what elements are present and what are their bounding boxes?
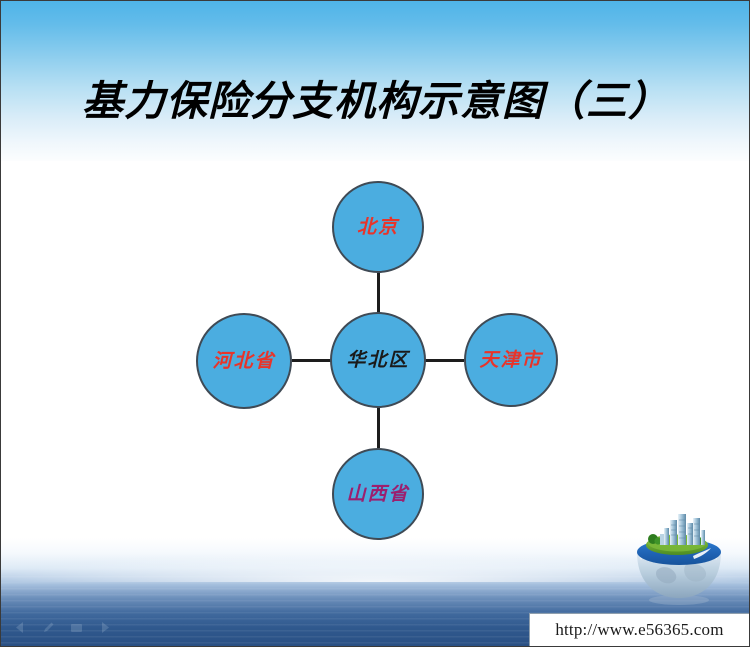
pen-tool-button[interactable] xyxy=(41,621,56,634)
node-tianjin-city[interactable]: 天津市 xyxy=(464,313,558,407)
earth-city-globe-logo xyxy=(627,512,731,606)
website-url-text: http://www.e56365.com xyxy=(555,620,723,640)
presentation-slide: 基力保险分支机构示意图（三） 北京 河北省 华北区 天津市 山西省 xyxy=(0,0,750,647)
node-shanxi-province[interactable]: 山西省 xyxy=(332,448,424,540)
website-url-plate[interactable]: http://www.e56365.com xyxy=(529,613,749,646)
presentation-nav-controls xyxy=(13,621,112,634)
slide-menu-button[interactable] xyxy=(69,621,84,634)
node-north-china-region[interactable]: 华北区 xyxy=(330,312,426,408)
node-hebei-province[interactable]: 河北省 xyxy=(196,313,292,409)
node-shanxi-province-label: 山西省 xyxy=(346,485,409,504)
node-north-china-region-label: 华北区 xyxy=(346,351,409,370)
node-tianjin-city-label: 天津市 xyxy=(479,351,542,370)
next-slide-button[interactable] xyxy=(97,621,112,634)
previous-slide-button[interactable] xyxy=(13,621,28,634)
node-beijing-label: 北京 xyxy=(357,218,399,237)
node-beijing[interactable]: 北京 xyxy=(332,181,424,273)
node-hebei-province-label: 河北省 xyxy=(212,352,275,371)
